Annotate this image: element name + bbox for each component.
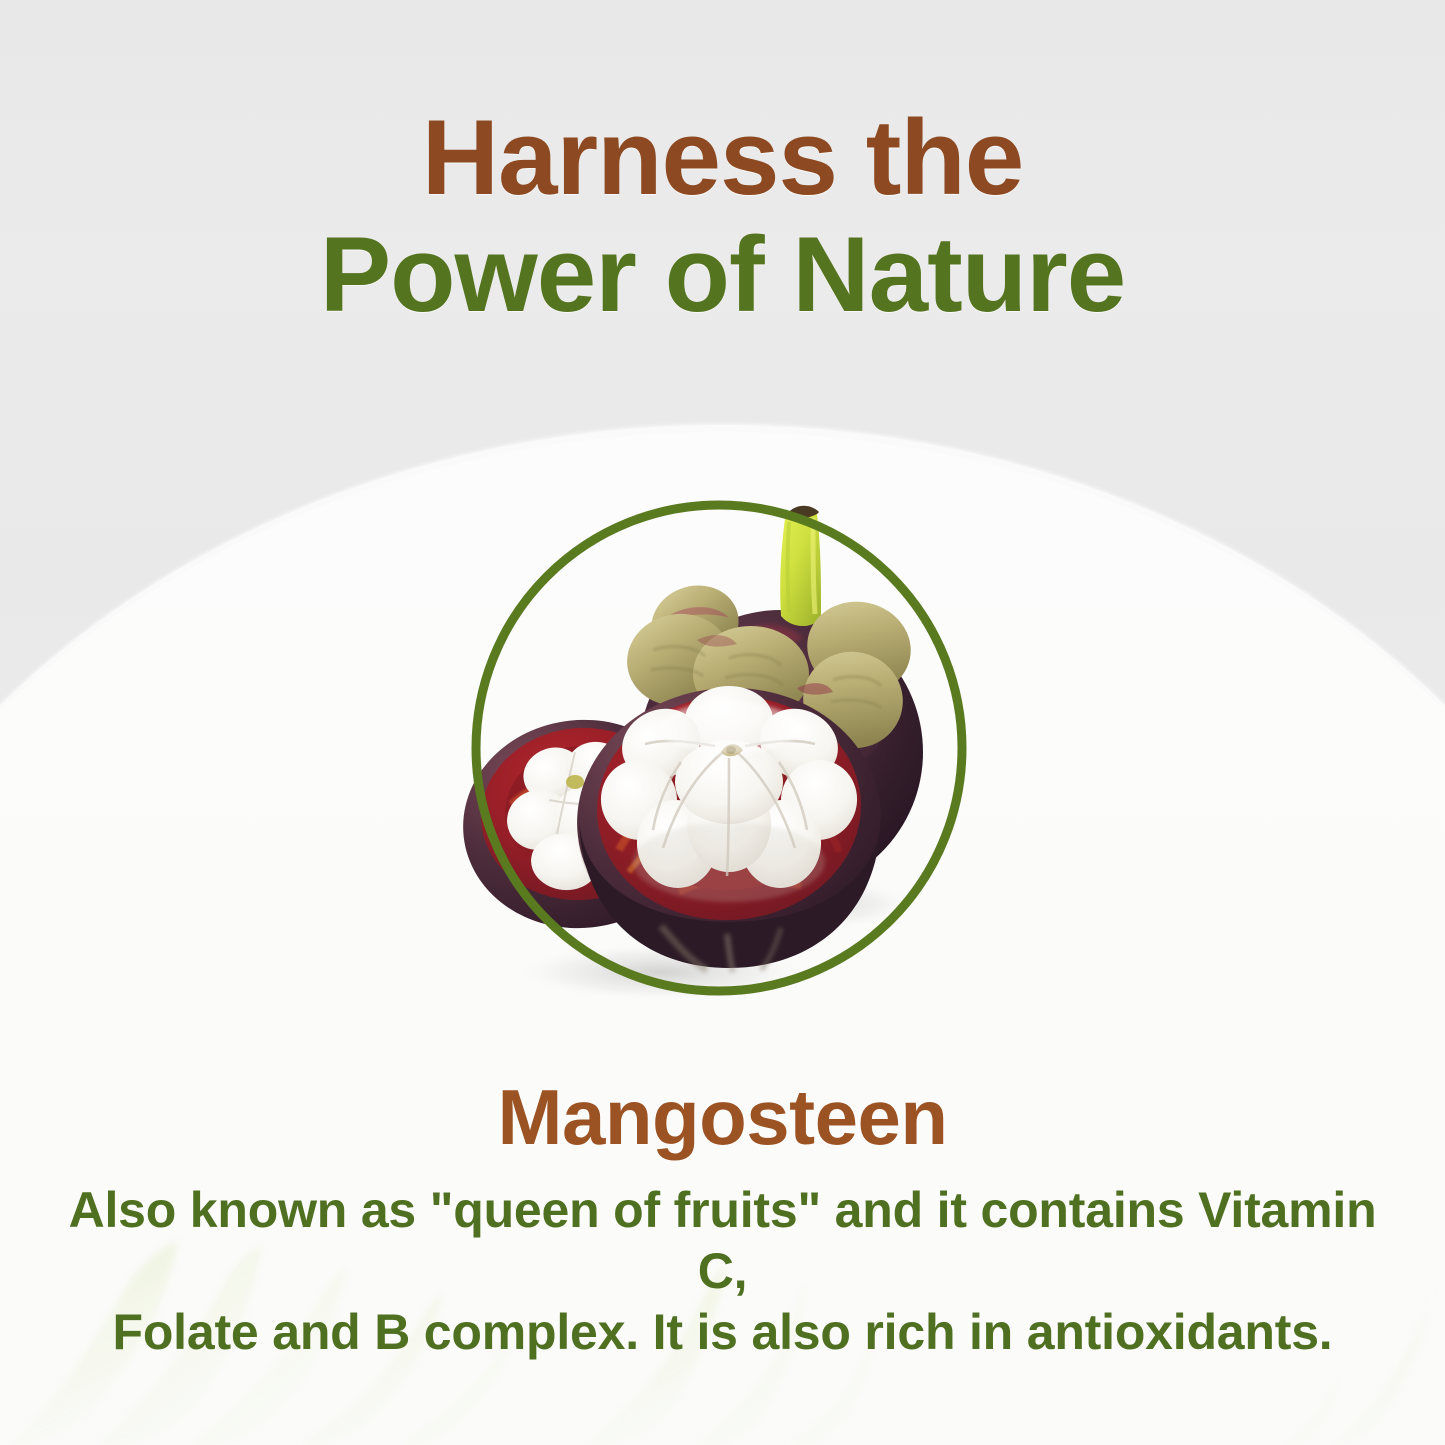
fruit-medallion xyxy=(471,500,967,996)
fruit-description-line-1: Also known as "queen of fruits" and it c… xyxy=(40,1180,1405,1302)
medallion-ring-icon xyxy=(471,500,967,996)
fruit-description-line-2: Folate and B complex. It is also rich in… xyxy=(40,1302,1405,1363)
fruit-name: Mangosteen xyxy=(0,1072,1445,1163)
headline: Harness the Power of Nature xyxy=(0,104,1445,328)
headline-line-1: Harness the xyxy=(0,104,1445,211)
fruit-description: Also known as "queen of fruits" and it c… xyxy=(40,1180,1405,1363)
headline-line-2: Power of Nature xyxy=(0,221,1445,328)
poster-canvas: Harness the Power of Nature xyxy=(0,0,1445,1445)
